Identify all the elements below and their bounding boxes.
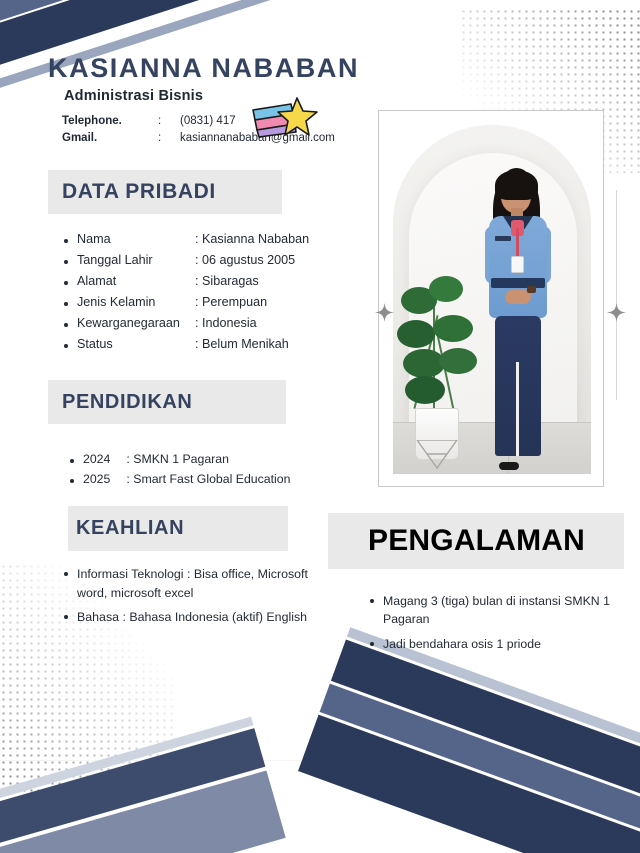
pendidikan-list: 2024 : SMKN 1 Pagaran 2025 : Smart Fast … — [68, 452, 358, 492]
section-title-data-pribadi: DATA PRIBADI — [62, 180, 216, 204]
education-year: 2025 — [83, 472, 123, 486]
section-header-keahlian: KEAHLIAN — [68, 506, 288, 551]
telephone-label: Telephone. — [62, 113, 158, 130]
field-value: : Perempuan — [195, 295, 352, 309]
field-value: : Belum Menikah — [195, 337, 352, 351]
id-badge — [511, 256, 524, 273]
list-item: 2024 : SMKN 1 Pagaran — [68, 452, 358, 466]
list-item: Kewarganegaraan : Indonesia — [62, 316, 352, 330]
list-item: Nama : Kasianna Nababan — [62, 232, 352, 246]
list-item: Magang 3 (tiga) bulan di instansi SMKN 1… — [368, 592, 618, 629]
trousers — [495, 316, 541, 456]
wristwatch — [527, 286, 536, 293]
hair-front — [495, 170, 538, 200]
list-item: Bahasa : Bahasa Indonesia (aktif) Englis… — [62, 608, 332, 627]
section-title-pengalaman: PENGALAMAN — [368, 524, 585, 558]
pengalaman-list: Magang 3 (tiga) bulan di instansi SMKN 1… — [368, 592, 618, 659]
list-item: 2025 : Smart Fast Global Education — [68, 472, 358, 486]
field-value: : 06 agustus 2005 — [195, 253, 352, 267]
name-tag — [495, 236, 511, 241]
sparkle-diamond-left-icon — [375, 303, 394, 322]
list-item: Jenis Kelamin : Perempuan — [62, 295, 352, 309]
profile-photo-frame — [378, 110, 604, 487]
lanyard — [516, 228, 519, 258]
field-label: Alamat — [77, 274, 195, 288]
education-year: 2024 — [83, 452, 123, 466]
field-label: Nama — [77, 232, 195, 246]
bottom-right-diagonal-bands — [279, 627, 640, 853]
field-value: : Sibaragas — [195, 274, 352, 288]
section-header-pengalaman: PENGALAMAN — [328, 513, 624, 569]
list-item: Jadi bendahara osis 1 priode — [368, 635, 618, 653]
gmail-label: Gmail. — [62, 130, 158, 147]
list-item: Tanggal Lahir : 06 agustus 2005 — [62, 253, 352, 267]
data-pribadi-list: Nama : Kasianna Nababan Tanggal Lahir : … — [62, 232, 352, 358]
profile-photo — [393, 125, 591, 474]
section-header-data-pribadi: DATA PRIBADI — [48, 170, 282, 214]
education-value: : SMKN 1 Pagaran — [126, 452, 229, 466]
field-value: : Indonesia — [195, 316, 352, 330]
field-label: Kewarganegaraan — [77, 316, 195, 330]
section-title-keahlian: KEAHLIAN — [76, 517, 184, 540]
section-title-pendidikan: PENDIDIKAN — [62, 391, 192, 414]
cv-page: KASIANNA NABABAN Administrasi Bisnis Tel… — [0, 0, 640, 853]
sparkle-diamond-right-icon — [607, 303, 626, 322]
person-figure — [475, 166, 561, 466]
potted-plant — [399, 230, 485, 460]
list-item: Status : Belum Menikah — [62, 337, 352, 351]
education-value: : Smart Fast Global Education — [126, 472, 290, 486]
field-label: Status — [77, 337, 195, 351]
gmail-colon: : — [158, 130, 180, 147]
belt — [491, 278, 545, 288]
field-value: : Kasianna Nababan — [195, 232, 352, 246]
section-header-pendidikan: PENDIDIKAN — [48, 380, 286, 424]
list-item: Informasi Teknologi : Bisa office, Micro… — [62, 565, 332, 603]
right-sparkle-line — [616, 190, 617, 400]
plant-stand-icon — [411, 440, 463, 470]
page-title: KASIANNA NABABAN — [48, 54, 359, 82]
field-label: Tanggal Lahir — [77, 253, 195, 267]
star-sticker-icon — [247, 92, 319, 142]
shoe — [499, 462, 519, 470]
telephone-value: (0831) 417 — [180, 113, 236, 130]
keahlian-list: Informasi Teknologi : Bisa office, Micro… — [62, 565, 332, 633]
field-label: Jenis Kelamin — [77, 295, 195, 309]
list-item: Alamat : Sibaragas — [62, 274, 352, 288]
telephone-colon: : — [158, 113, 180, 130]
